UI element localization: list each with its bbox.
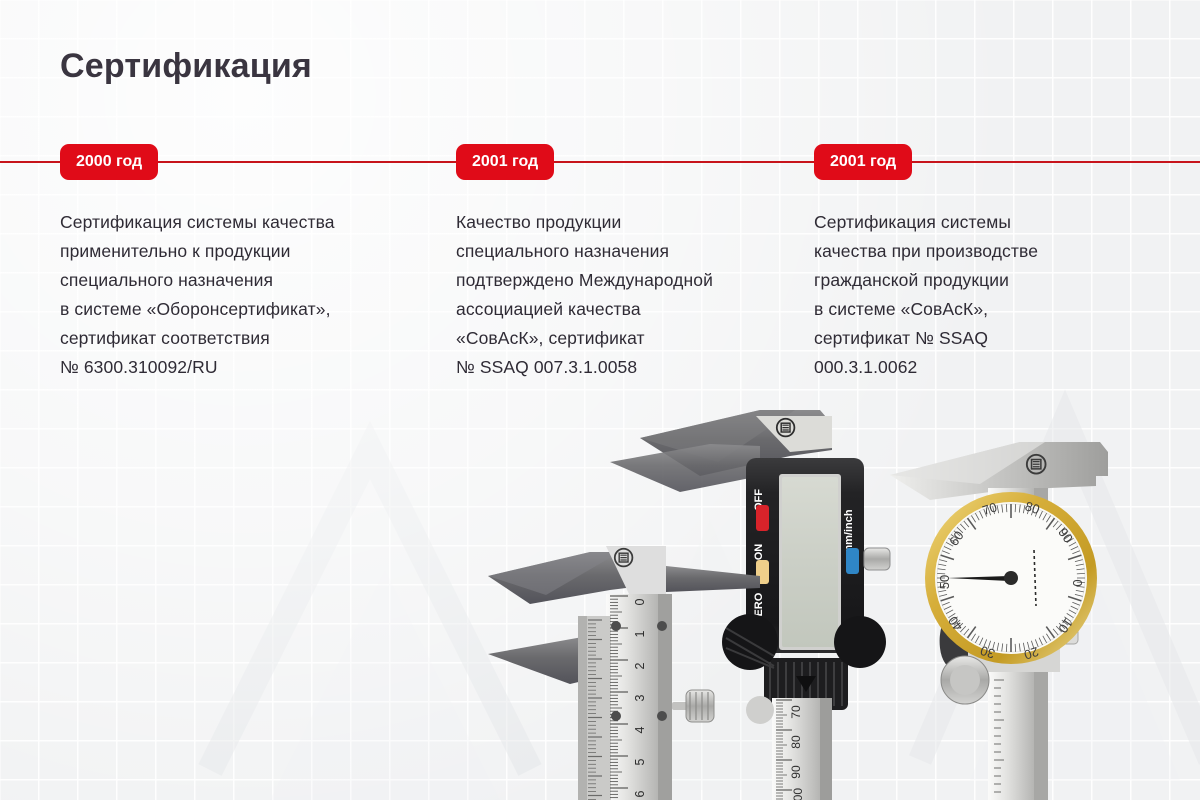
certification-text-1: Сертификация системы качества применител… (60, 208, 432, 382)
label-mm-inch: mm/inch (843, 509, 855, 555)
calipers-illustration: 0 10 20 30 40 50 60 70 80 90 (460, 380, 1200, 800)
lcd-display (782, 477, 838, 647)
svg-text:6: 6 (633, 790, 647, 797)
label-on: ON (753, 544, 765, 561)
year-badge-2001-a[interactable]: 2001 год (456, 144, 554, 180)
year-badge-2000[interactable]: 2000 год (60, 144, 158, 180)
svg-text:80: 80 (789, 735, 803, 749)
svg-text:0: 0 (1070, 579, 1085, 586)
dial-indicator: 0 10 20 30 40 50 60 70 80 90 (925, 492, 1097, 664)
svg-text:0: 0 (633, 598, 647, 605)
calipers-photo: 0 10 20 30 40 50 60 70 80 90 (460, 380, 1200, 800)
svg-text:1: 1 (633, 630, 647, 637)
lock-screw[interactable] (864, 548, 890, 570)
slide-canvas: 0 10 20 30 40 50 60 70 80 90 (0, 0, 1200, 800)
svg-text:2: 2 (633, 662, 647, 669)
svg-text:50: 50 (937, 575, 952, 589)
vernier-caliper: 0 1 2 3 4 5 6 (488, 546, 760, 800)
off-button[interactable] (756, 505, 769, 531)
timeline-rule (0, 161, 1200, 163)
page-title: Сертификация (60, 44, 312, 88)
certification-text-2: Качество продукции специального назначен… (456, 208, 804, 382)
dial-caliper: 0 10 20 30 40 50 60 70 80 90 (890, 442, 1108, 800)
svg-text:4: 4 (633, 726, 647, 733)
svg-text:70: 70 (789, 705, 803, 719)
certification-text-3: Сертификация системы качества при произв… (814, 208, 1174, 382)
svg-text:100: 100 (791, 788, 805, 800)
svg-text:3: 3 (633, 694, 647, 701)
mm-inch-button[interactable] (846, 548, 859, 574)
svg-text:90: 90 (789, 765, 803, 779)
year-badge-2001-b[interactable]: 2001 год (814, 144, 912, 180)
svg-text:5: 5 (633, 758, 647, 765)
